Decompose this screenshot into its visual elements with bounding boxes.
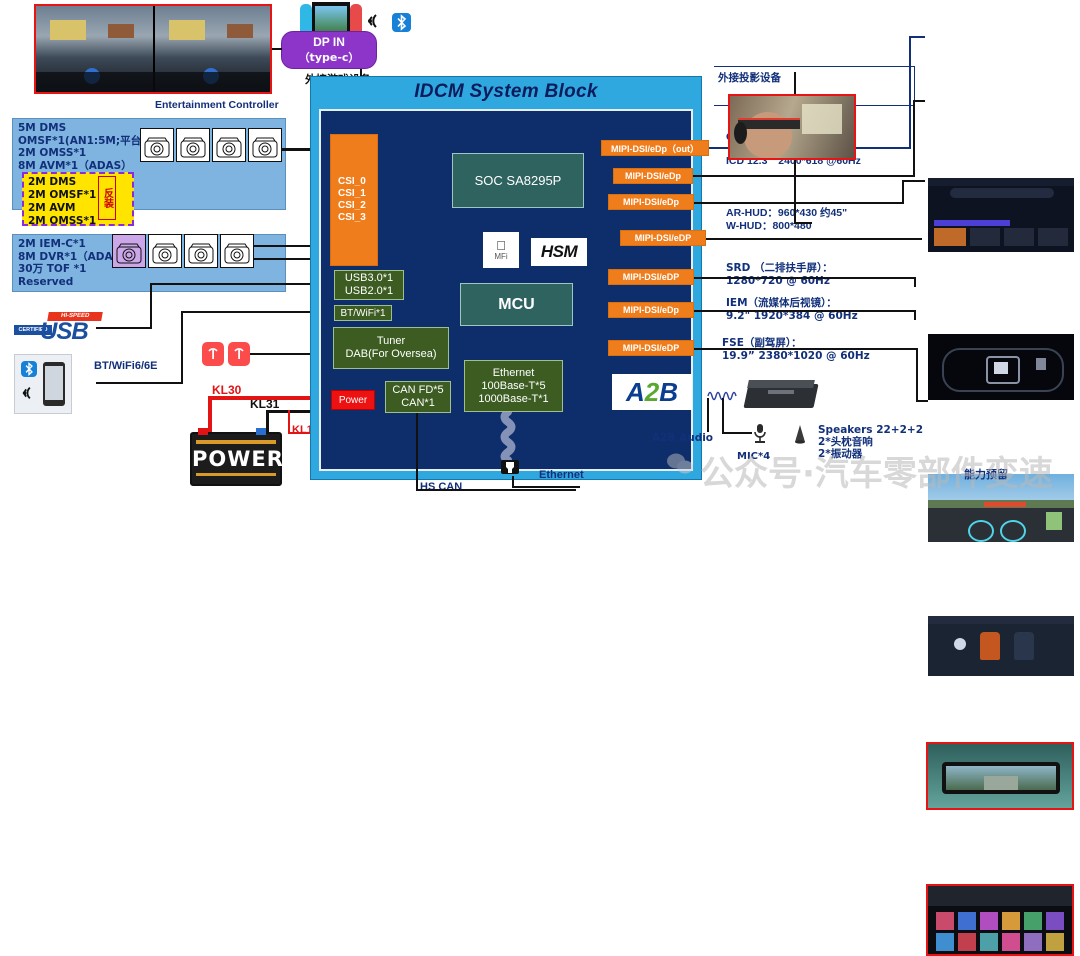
camera-group-top-subbox: 2M DMS 2M OMSF*1 2M AVM 2M OMSS*1 [22, 172, 134, 226]
camera-icon [184, 234, 218, 268]
dp-in-label-2: （type-c） [299, 50, 360, 65]
soc-block: SOC SA8295P [452, 153, 584, 208]
wire-mic-h [722, 432, 752, 434]
mipi-port-0-label: MIPI-DSI/eDp（out） [611, 142, 699, 155]
apple-icon:  [496, 240, 506, 252]
watermark-text: 公众号·汽车零部件变速 [700, 446, 1053, 495]
wire-hscan-v [416, 413, 418, 491]
power-block: Power [331, 390, 375, 410]
external-projection-label: 外接投影设备 [718, 72, 781, 85]
mipi-port-5: MIPI-DSI/eDp [608, 302, 694, 318]
wire-mipi5-v [914, 310, 916, 320]
mipi-port-3-label: MIPI-DSI/eDP [635, 233, 692, 243]
wire-arglasses-h [794, 222, 812, 224]
iem-mirror-photo [926, 742, 1074, 810]
wechat-logo-icon [666, 452, 694, 476]
antenna-icon [228, 342, 250, 366]
srd-photo [928, 616, 1074, 676]
wire-mipi1-t [913, 100, 925, 102]
wire-mipi4-v [914, 277, 916, 287]
camera-icon [220, 234, 254, 268]
a2b-cable-icon [707, 388, 741, 404]
wire-mipi2-t [902, 180, 925, 182]
wire-hscan-h [416, 489, 576, 491]
wire-btwifi-2 [181, 311, 183, 384]
idcm-title: IDCM System Block [311, 81, 701, 103]
mipi-port-3: MIPI-DSI/eDP [620, 230, 706, 246]
a2b-logo: A2B [612, 374, 692, 410]
kl30-label: KL30 [212, 383, 241, 397]
hsm-logo: HSM [531, 238, 587, 266]
ethernet-bottom-label: Ethernet [539, 469, 584, 481]
wire-btwifi [96, 382, 182, 384]
battery-icon: POWER [190, 432, 282, 486]
microphone-icon [752, 423, 768, 445]
wire-mipi1 [693, 175, 915, 177]
camera-icon [212, 128, 246, 162]
mcu-block: MCU [460, 283, 573, 326]
dp-in-port[interactable]: DP IN （type-c） [281, 31, 377, 69]
tuner-label: Tuner DAB(For Oversea) [345, 335, 436, 361]
mipi-port-6-label: MIPI-DSI/eDP [623, 343, 680, 353]
wire-mipi0-v [909, 36, 911, 149]
camera-icon [140, 128, 174, 162]
wire-mipi6 [694, 348, 918, 350]
wire-ethernet-h [512, 486, 580, 488]
rear-entertainment-photo [926, 884, 1074, 956]
wire-kl31-v [266, 410, 269, 434]
btwifi-block-label: BT/WiFi*1 [341, 307, 386, 320]
mfi-label: MFi [494, 252, 507, 261]
srd-label: SRD （二排扶手屏）： 1280*720 @ 60Hz [726, 262, 833, 288]
wire-mipi6-t [916, 400, 928, 402]
a2b-label: A2B [626, 377, 678, 408]
camera-icon [248, 128, 282, 162]
wire-mipi4 [694, 277, 916, 279]
bt-wifi-label: BT/WiFi6/6E [94, 360, 157, 372]
csi-label: CSI_0 CSI_1 CSI_2 CSI_3 [338, 176, 366, 224]
amplifier-icon [742, 378, 820, 414]
btwifi-block: BT/WiFi*1 [334, 305, 392, 321]
fse-label: FSE（副驾屏）： 19.9” 2380*1020 @ 60Hz [722, 337, 870, 363]
phone-bt-icon [14, 354, 72, 414]
camera-icon [176, 128, 210, 162]
wire-kl30-v [208, 396, 212, 432]
entertainment-controller-label: Entertainment Controller [155, 99, 279, 111]
ethernet-label: Ethernet 100Base-T*5 1000Base-T*1 [478, 367, 548, 406]
ethernet-block: Ethernet 100Base-T*5 1000Base-T*1 [464, 360, 563, 412]
wire-mipi5 [694, 310, 916, 312]
camera-icon [112, 234, 146, 268]
mipi-port-4-label: MIPI-DSI/eDP [623, 272, 680, 282]
soc-label: SOC SA8295P [475, 173, 562, 188]
ar-glasses-photo [728, 94, 856, 160]
mfi-logo:  MFi [483, 232, 519, 268]
ethernet-connector-icon [495, 412, 525, 482]
canfd-label: CAN FD*5 CAN*1 [392, 384, 443, 410]
wire-mipi6-v [916, 348, 918, 400]
icd-cluster-photo [928, 334, 1074, 400]
mipi-port-1: MIPI-DSI/eDp [613, 168, 693, 184]
wire-mic [722, 398, 724, 432]
dp-in-label-1: DP IN [313, 35, 345, 50]
wire-mipi1-v [913, 100, 915, 177]
mcu-label: MCU [498, 296, 534, 314]
canfd-block: CAN FD*5 CAN*1 [385, 381, 451, 413]
entertainment-video-preview [34, 4, 272, 94]
antenna-icon [202, 342, 224, 366]
mipi-port-5-label: MIPI-DSI/eDp [623, 305, 679, 315]
a2b-audio-label: A2B Audio [652, 432, 713, 444]
cid-display-photo [928, 178, 1074, 252]
usb-block: USB3.0*1 USB2.0*1 [334, 270, 404, 300]
wire-kl15 [288, 410, 290, 432]
wire-mipi0-t [909, 36, 925, 38]
mipi-port-4: MIPI-DSI/eDP [608, 269, 694, 285]
reverse-mount-tag: 反装 [98, 176, 116, 220]
wire-usb [96, 327, 152, 329]
csi-block: CSI_0 CSI_1 CSI_2 CSI_3 [330, 134, 378, 266]
wire-video-to-dp [272, 48, 282, 50]
tuner-block: Tuner DAB(For Oversea) [333, 327, 449, 369]
speaker-icon [790, 424, 810, 444]
mipi-port-6: MIPI-DSI/eDP [608, 340, 694, 356]
hud-label: AR-HUD：960*430 约45" W-HUD：800*480 [726, 207, 847, 233]
wireless-icon [366, 12, 384, 30]
mipi-port-1-label: MIPI-DSI/eDp [625, 171, 681, 181]
usb-block-label: USB3.0*1 USB2.0*1 [345, 272, 393, 298]
hs-can-label: HS CAN [420, 481, 462, 493]
power-block-label: Power [339, 395, 367, 406]
wire-usb-3 [150, 283, 332, 285]
bluetooth-icon [392, 13, 411, 32]
camera-icon [148, 234, 182, 268]
mipi-port-0: MIPI-DSI/eDp（out） [601, 140, 709, 156]
camera-group-top-sublines: 2M DMS 2M OMSF*1 2M AVM 2M OMSS*1 [28, 176, 96, 227]
battery-label: POWER [192, 447, 280, 471]
wire-a2b-up [707, 398, 709, 432]
wire-mipi2-v [902, 180, 904, 204]
wire-mipi2 [694, 202, 904, 204]
mipi-port-2: MIPI-DSI/eDp [608, 194, 694, 210]
mipi-port-2-label: MIPI-DSI/eDp [623, 197, 679, 207]
wire-mipi3 [706, 238, 922, 240]
wire-usb-2 [150, 283, 152, 329]
hsm-label: HSM [541, 242, 577, 262]
usb-logo: HI-SPEED CERTIFIED USB [14, 312, 104, 346]
usb-wordmark: USB [40, 318, 88, 346]
